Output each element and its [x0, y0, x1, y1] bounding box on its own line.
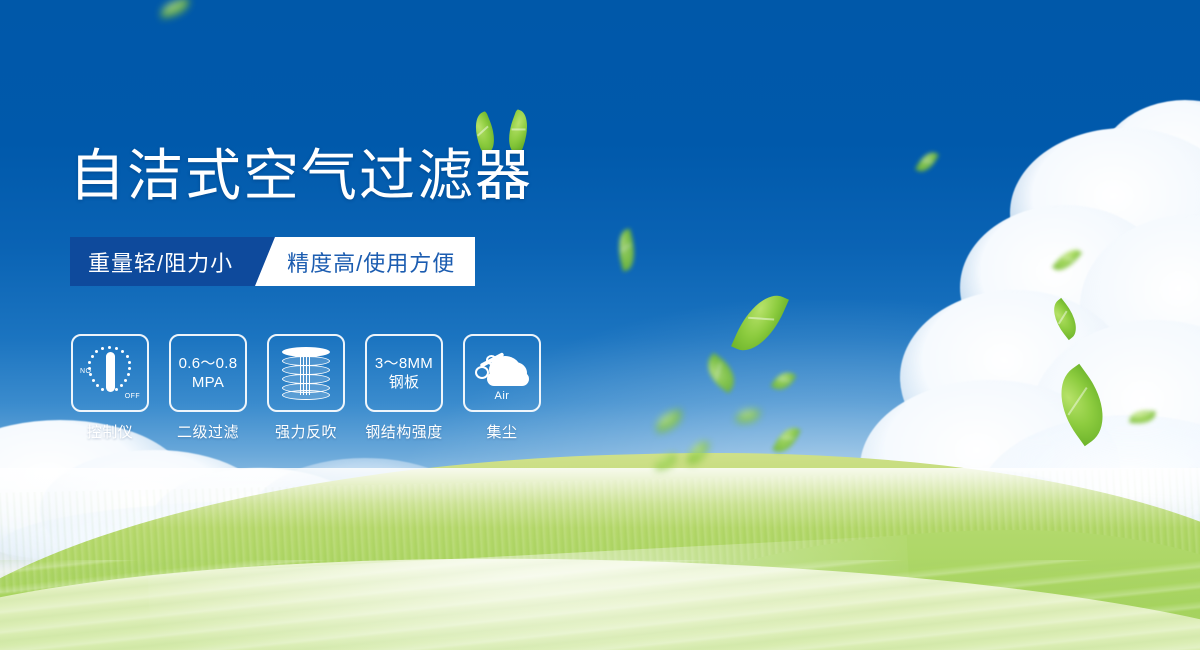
feature-item[interactable]: Air 集尘: [462, 334, 542, 442]
page-title: 自洁式空气过滤器: [69, 144, 533, 208]
feature-icon-box: Air: [463, 334, 541, 412]
subtitle-right: 精度高/使用方便: [275, 237, 475, 286]
feature-item[interactable]: NO OFF 控制仪: [70, 334, 150, 442]
filter-stack-icon: [280, 345, 332, 401]
feature-item[interactable]: 0.6～0.8 MPA 二级过滤: [168, 334, 248, 442]
feature-label: 二级过滤: [177, 421, 239, 442]
cloud-ring-icon: [475, 366, 489, 379]
feature-icon-box: 0.6～0.8 MPA: [169, 334, 247, 412]
gauge-icon: NO OFF: [80, 344, 140, 402]
feature-icon-box: 3～8MM 钢板: [365, 334, 443, 412]
feature-label: 强力反吹: [275, 421, 337, 442]
feature-label: 控制仪: [87, 421, 134, 442]
feature-list: NO OFF 控制仪 0.6～0.8 MPA 二级过滤: [70, 334, 542, 442]
gauge-needle: [106, 352, 115, 392]
feature-item[interactable]: 3～8MM 钢板 钢结构强度: [364, 334, 444, 442]
banner-content: 自洁式空气过滤器 重量轻/阻力小 精度高/使用方便: [0, 0, 1200, 650]
steel-material: 钢板: [389, 373, 420, 392]
pressure-value: 0.6～0.8: [179, 354, 238, 373]
feature-item[interactable]: 强力反吹: [266, 334, 346, 442]
air-cloud-icon: Air: [473, 348, 531, 398]
feature-label: 钢结构强度: [365, 421, 443, 442]
subtitle-bar: 重量轻/阻力小 精度高/使用方便: [70, 237, 475, 286]
cloud-base-icon: [487, 372, 529, 386]
subtitle-left: 重量轻/阻力小: [70, 237, 255, 286]
subtitle-divider: [255, 237, 275, 286]
air-label: Air: [473, 390, 531, 402]
gauge-label-off: OFF: [125, 393, 140, 400]
feature-icon-box: [267, 334, 345, 412]
gauge-label-no: NO: [80, 368, 91, 375]
pressure-unit: MPA: [192, 373, 224, 392]
product-banner: 自洁式空气过滤器 重量轻/阻力小 精度高/使用方便: [0, 0, 1200, 650]
feature-label: 集尘: [486, 421, 517, 442]
steel-thickness: 3～8MM: [375, 354, 433, 373]
feature-icon-box: NO OFF: [71, 334, 149, 412]
